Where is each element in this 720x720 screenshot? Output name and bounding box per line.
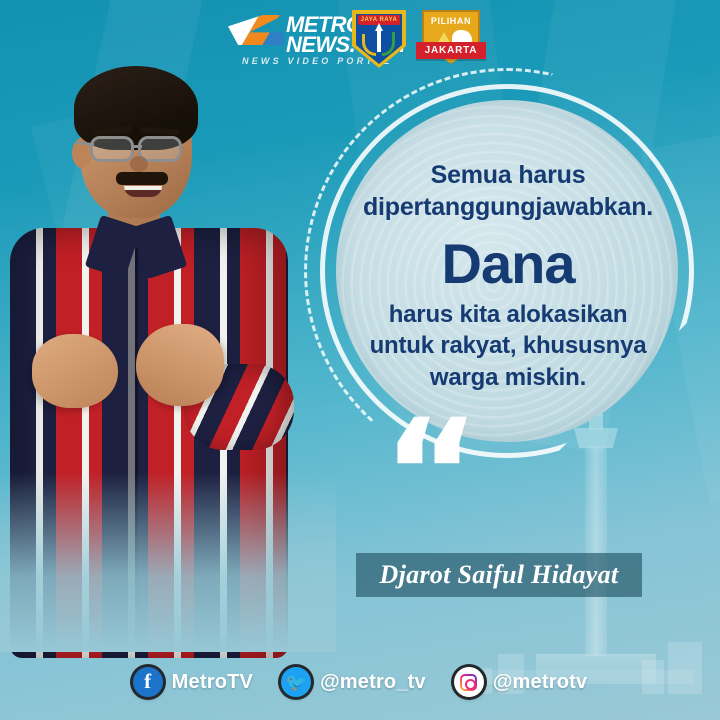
pilihan-banner-text: JAKARTA [425,45,478,56]
quote-line-4: untuk rakyat, khususnya [330,331,686,360]
portrait-mouth [124,186,162,197]
quote-highlight-word: Dana [330,236,686,292]
pilihan-top-text: PILIHAN [422,16,480,26]
instagram-handle: @metrotv [493,671,587,694]
portrait-hand-right [136,324,224,406]
poster-canvas: Semua harus dipertanggungjawabkan. Dana … [0,0,720,720]
facebook-glyph: f [144,671,151,692]
portrait-bottom-fade [0,472,336,652]
header-logo-bar: METROTV NEWS.COM NEWS VIDEO PORTAL JAYA … [0,0,720,76]
social-facebook[interactable]: f MetroTV [133,667,253,697]
portrait-mustache [116,172,168,185]
metrotv-swoosh-icon [228,15,284,45]
instagram-glyph [460,674,477,691]
instagram-icon[interactable] [454,667,484,697]
social-twitter[interactable]: 🐦 @metro_tv [281,667,426,697]
facebook-icon[interactable]: f [133,667,163,697]
pilihan-jakarta-badge-icon: PILIHAN JAKARTA [416,10,486,68]
quote-line-1: Semua harus [330,160,686,191]
jakarta-provincial-emblem-icon: JAYA RAYA [352,10,406,68]
twitter-icon[interactable]: 🐦 [281,667,311,697]
facebook-handle: MetroTV [172,671,253,694]
attribution-nameplate: Djarot Saiful Hidayat [356,553,642,597]
quote-text-block: Semua harus dipertanggungjawabkan. Dana … [330,160,686,392]
attribution-name: Djarot Saiful Hidayat [380,560,619,590]
monas-shaft [585,446,607,656]
social-media-bar: f MetroTV 🐦 @metro_tv @metrotv [0,662,720,702]
twitter-glyph: 🐦 [285,674,306,691]
dki-monas-shaft [377,28,381,52]
portrait-glasses-left-lens [90,136,134,162]
portrait-djarot-saiful-hidayat [0,52,336,652]
portrait-glasses-bridge [134,145,142,148]
twitter-handle: @metro_tv [320,671,426,694]
pilihan-banner: JAKARTA [416,42,486,59]
quote-line-3: harus kita alokasikan [330,300,686,329]
portrait-nose [130,156,148,172]
portrait-hand-left [32,334,118,408]
quote-line-2: dipertanggungjawabkan. [330,192,686,223]
social-instagram[interactable]: @metrotv [454,667,587,697]
quotation-mark-icon: “ [382,400,475,550]
